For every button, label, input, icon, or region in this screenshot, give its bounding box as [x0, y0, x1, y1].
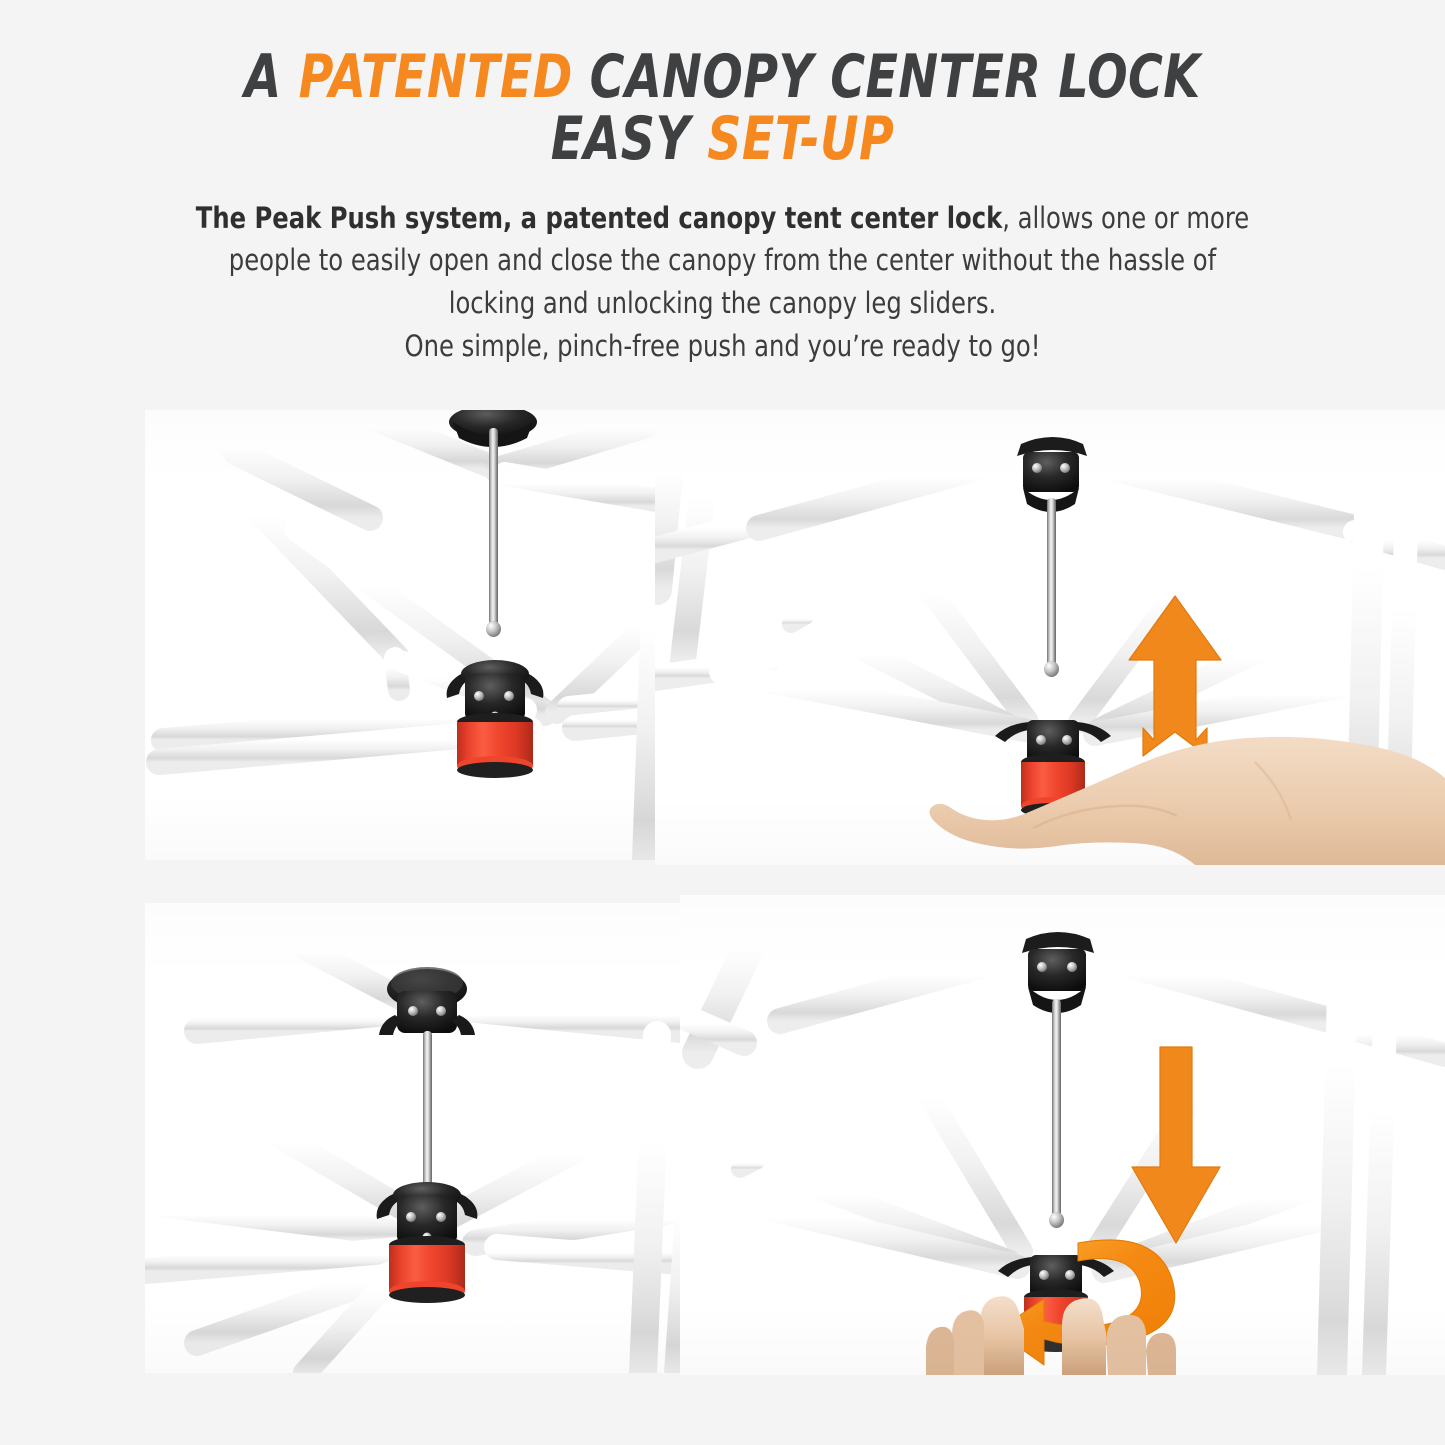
headline-line-1: A PATENTED CANOPY CENTER LOCK: [87, 46, 1359, 108]
hub-screw-left: [1039, 1270, 1049, 1280]
description-bold-lead: The Peak Push system, a patented canopy …: [196, 201, 1002, 235]
center-lock-hub-bottom: [377, 1182, 478, 1303]
hub-screw-right: [1062, 735, 1072, 745]
push-rod-tip: [1049, 1212, 1064, 1228]
hand-right-finger-1: [1062, 1298, 1106, 1375]
canopy-tube-group: [159, 412, 691, 860]
panel-frame-unlocked-closed: [145, 410, 691, 860]
description-line-4: One simple, pinch-free push and you’re r…: [51, 325, 1395, 368]
hand-right-finger-3: [1146, 1333, 1176, 1375]
headline-prefix: A: [244, 42, 298, 112]
panel-hand-pushing-up: [655, 410, 1445, 865]
peak-screw-right: [1060, 463, 1070, 473]
headline-easy: EASY: [551, 104, 708, 174]
description-line-2: people to easily open and close the cano…: [51, 239, 1395, 282]
push-rod-tip: [486, 621, 501, 637]
hand-left-finger-1: [980, 1296, 1024, 1375]
description-line-3: locking and unlocking the canopy leg sli…: [51, 282, 1395, 325]
hub-screw-left: [474, 691, 484, 701]
hand-palm-up: [929, 737, 1445, 865]
page-title: A PATENTED CANOPY CENTER LOCK EASY SET-U…: [87, 0, 1359, 171]
hand-left-finger-2: [952, 1310, 984, 1375]
panel-br-illustration: [680, 895, 1445, 1375]
product-image-grid: [0, 400, 1445, 1445]
headline-highlight-patented: PATENTED: [299, 42, 573, 112]
hand-left-finger-3: [926, 1327, 954, 1375]
hub-screw-right: [504, 691, 514, 701]
description-line-1-rest: , allows one or more: [1002, 201, 1249, 235]
panel-tr-illustration: [655, 410, 1445, 865]
top-hub-screw-right: [436, 1006, 446, 1016]
push-rod: [1047, 498, 1056, 666]
headline-highlight-setup: SET-UP: [707, 104, 894, 174]
peak-screw-right: [1067, 962, 1077, 972]
description-line-1: The Peak Push system, a patented canopy …: [51, 197, 1395, 240]
hub-screw-left: [1036, 735, 1046, 745]
panel-tl-illustration: [145, 410, 691, 860]
headline-suffix: CANOPY CENTER LOCK: [573, 42, 1201, 112]
push-rod-engaged: [423, 1031, 432, 1189]
hand-right-finger-2: [1106, 1315, 1146, 1375]
push-rod: [489, 428, 498, 626]
headline-line-2: EASY SET-UP: [87, 108, 1359, 170]
description-paragraph: The Peak Push system, a patented canopy …: [51, 197, 1395, 368]
panel-bl-illustration: [145, 903, 691, 1373]
top-hub-screw-left: [408, 1006, 418, 1016]
center-lock-hub: [447, 660, 544, 778]
bottom-hub-screw-right: [436, 1212, 446, 1222]
push-rod-extended: [1052, 999, 1061, 1217]
push-rod-tip: [1044, 661, 1059, 677]
panel-frame-locked-open: [145, 903, 691, 1373]
panel-hands-twist-release: [680, 895, 1445, 1375]
bottom-hub-screw-left: [406, 1212, 416, 1222]
peak-screw-left: [1032, 463, 1042, 473]
hub-screw-right: [1065, 1270, 1075, 1280]
peak-screw-left: [1037, 962, 1047, 972]
